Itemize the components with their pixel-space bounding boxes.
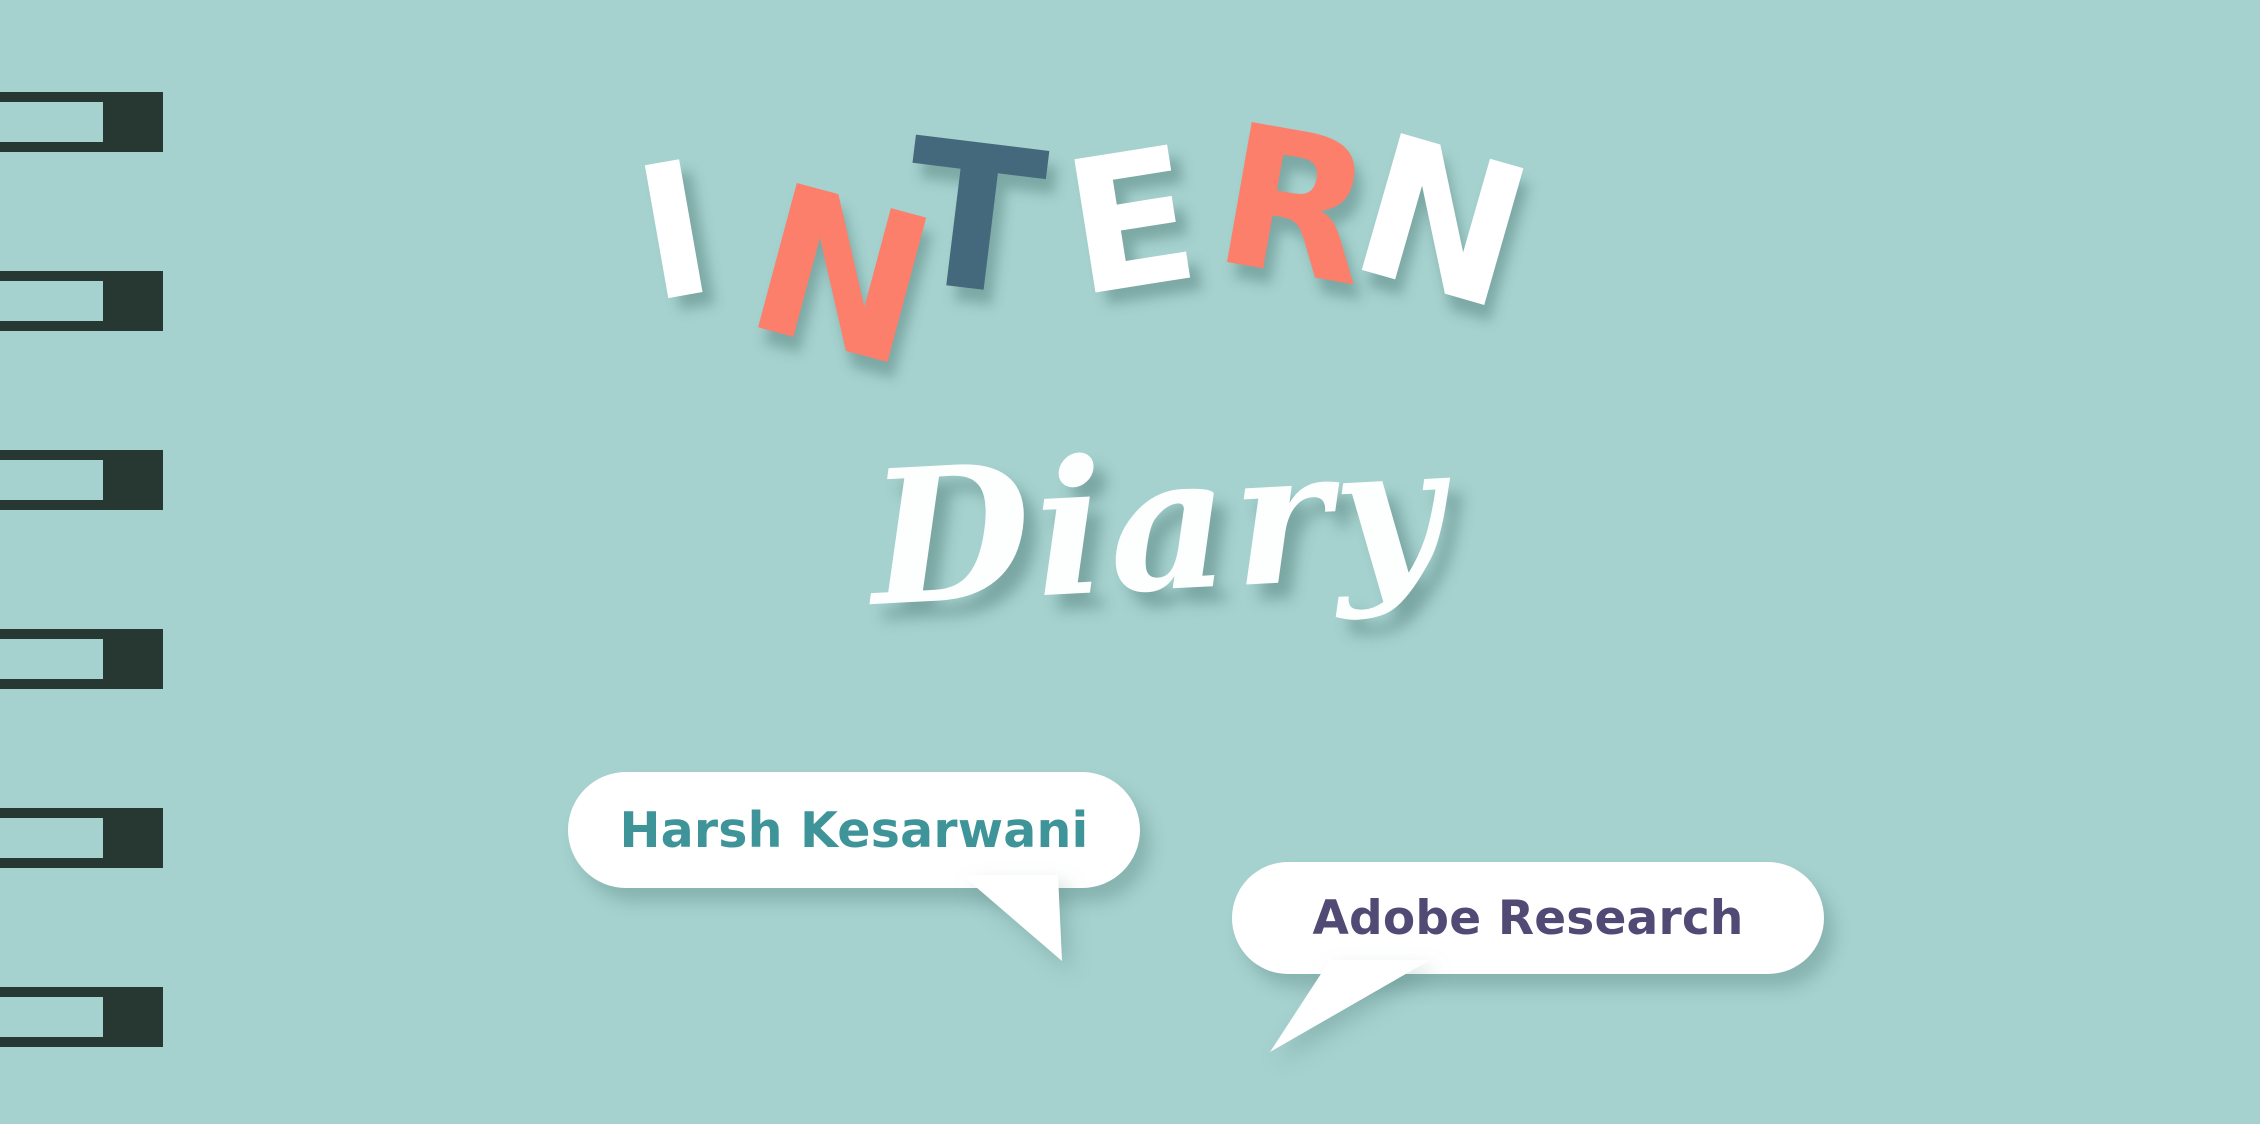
speech-bubble-org[interactable]: Adobe Research xyxy=(1232,862,1824,974)
binding-ring-hole xyxy=(0,639,103,679)
binding-ring-hole xyxy=(0,102,103,142)
title-letter-3: E xyxy=(1054,121,1208,323)
speech-bubble-org-tail xyxy=(1270,960,1430,1055)
binding-ring xyxy=(0,987,163,1047)
binding-ring xyxy=(0,271,163,331)
page-title-diary: Diary xyxy=(865,400,1451,648)
speech-bubble-name[interactable]: Harsh Kesarwani xyxy=(568,772,1140,888)
page-title-intern: INTERN xyxy=(600,120,1660,440)
speech-bubble-org-label: Adobe Research xyxy=(1312,891,1743,946)
speech-bubble-name-tail xyxy=(962,875,1092,965)
binding-ring xyxy=(0,629,163,689)
title-letter-2: T xyxy=(893,112,1053,327)
title-letter-0: I xyxy=(624,135,724,329)
binding-ring-hole xyxy=(0,997,103,1037)
speech-bubble-name-label: Harsh Kesarwani xyxy=(619,802,1088,859)
notebook-binding-rings xyxy=(0,0,170,1124)
binding-ring-hole xyxy=(0,818,103,858)
binding-ring-hole xyxy=(0,281,103,321)
binding-ring xyxy=(0,92,163,152)
binding-ring xyxy=(0,808,163,868)
binding-ring-hole xyxy=(0,460,103,500)
binding-ring xyxy=(0,450,163,510)
